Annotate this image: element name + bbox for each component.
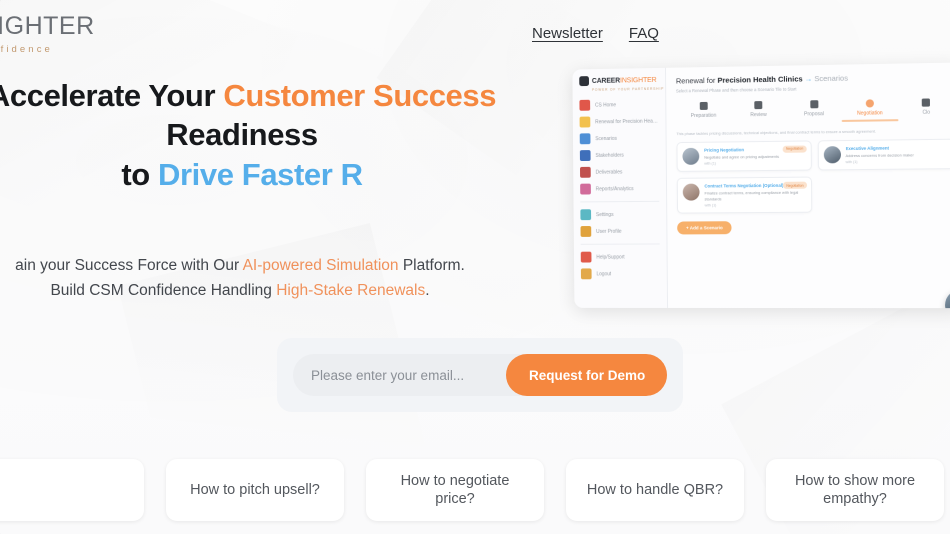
sidebar-item-cs-home[interactable]: CS Home xyxy=(573,96,666,114)
scenario-column-left: Pricing Negotiation Negotiate and agree … xyxy=(676,140,811,214)
mockup-breadcrumb: Renewal for Precision Health Clinics → S… xyxy=(676,72,950,86)
breadcrumb-arrow-icon: → xyxy=(803,74,815,83)
list-item[interactable]: How to handle QBR? xyxy=(566,459,744,521)
subtitle-accent-high-stake: High-Stake Renewals xyxy=(276,282,425,299)
sidebar-divider xyxy=(581,243,660,244)
sidebar-item-scenarios[interactable]: Scenarios xyxy=(573,129,666,147)
tab-proposal[interactable]: Proposal xyxy=(786,100,842,122)
closing-icon xyxy=(922,98,930,106)
mockup-logo-accent: INSIGHTER xyxy=(620,76,656,84)
avatar xyxy=(823,146,840,163)
subtitle-part-1: ain your Success Force with Our xyxy=(15,257,242,274)
list-item[interactable]: How to negotiate price? xyxy=(366,459,544,521)
mockup-main-panel: Renewal for Precision Health Clinics → S… xyxy=(666,62,950,308)
mockup-logo-main: CAREER xyxy=(592,77,620,84)
sidebar-item-logout[interactable]: Logout xyxy=(574,265,667,282)
lock-icon xyxy=(581,268,592,279)
headline-accent-drive-faster: Drive Faster R xyxy=(158,157,363,192)
home-icon xyxy=(579,100,590,111)
subtitle-part-3: Build CSM Confidence Handling xyxy=(50,282,276,299)
proposal-icon xyxy=(810,100,818,108)
tab-negotiation[interactable]: Negotiation xyxy=(842,99,898,121)
email-input[interactable] xyxy=(293,354,506,396)
sidebar-item-renewal[interactable]: Renewal for Precision Hea… xyxy=(573,112,666,130)
people-icon xyxy=(580,150,591,161)
list-item[interactable] xyxy=(0,459,144,521)
subtitle-part-4: . xyxy=(425,282,429,299)
demo-request-form: Request for Demo xyxy=(277,338,683,412)
subtitle-accent-ai-simulation: AI-powered Simulation xyxy=(243,257,399,274)
sidebar-item-reports[interactable]: Reports/Analytics xyxy=(573,180,666,198)
review-icon xyxy=(754,101,762,109)
site-logo[interactable]: INSIGHTER th Confidence xyxy=(0,14,95,55)
list-item[interactable]: Contract Terms Negotiation (Optional) Fi… xyxy=(677,177,812,214)
list-item[interactable]: Executive Alignment Address concerns fro… xyxy=(817,138,950,170)
list-item[interactable]: Pricing Negotiation Negotiate and agree … xyxy=(676,140,811,172)
mockup-phase-tabs: Preparation Review Proposal Negotiation xyxy=(676,98,950,124)
main-navigation: Newsletter FAQ xyxy=(532,25,659,42)
hero-heading-block: Accelerate Your Customer Success Readine… xyxy=(0,76,522,194)
preparation-icon xyxy=(699,102,707,110)
list-item[interactable]: How to pitch upsell? xyxy=(166,459,344,521)
demo-request-row: Request for Demo xyxy=(293,354,667,396)
nav-link-faq[interactable]: FAQ xyxy=(629,25,659,42)
app-screenshot-mockup: CAREERINSIGHTER POWER OF YOUR PARTNERSHI… xyxy=(572,62,950,308)
tab-preparation[interactable]: Preparation xyxy=(676,102,731,124)
sidebar-item-user-profile[interactable]: User Profile xyxy=(574,223,667,240)
mockup-account-name: Precision Health Clinics xyxy=(717,74,802,84)
nav-link-newsletter[interactable]: Newsletter xyxy=(532,25,603,42)
cards-icon xyxy=(580,133,591,144)
sidebar-divider xyxy=(580,201,659,203)
logo-mark-icon xyxy=(579,76,589,86)
logo-wordmark: INSIGHTER xyxy=(0,14,95,39)
add-scenario-button[interactable]: + Add a Scenario xyxy=(677,222,732,235)
page-title: Accelerate Your Customer Success Readine… xyxy=(0,76,522,194)
mockup-sidebar: CAREERINSIGHTER POWER OF YOUR PARTNERSHI… xyxy=(572,68,668,308)
mockup-scenario-grid: Pricing Negotiation Negotiate and agree … xyxy=(676,138,950,214)
question-icon xyxy=(581,252,592,263)
prompt-card-list: How to pitch upsell? How to negotiate pr… xyxy=(0,459,950,521)
scenario-column-right: Executive Alignment Address concerns fro… xyxy=(817,138,950,213)
hero-subtitle: ain your Success Force with Our AI-power… xyxy=(0,253,520,303)
status-badge: Negotiation xyxy=(783,145,806,152)
user-icon xyxy=(581,226,592,237)
headline-part-1: Accelerate Your xyxy=(0,78,223,113)
avatar xyxy=(683,184,700,201)
headline-accent-customer-success: Customer Success xyxy=(223,78,496,113)
status-badge: Negotiation xyxy=(783,182,806,189)
sidebar-item-settings[interactable]: Settings xyxy=(574,206,667,223)
subtitle-part-2: Platform. xyxy=(399,257,465,274)
list-item[interactable]: How to show more empathy? xyxy=(766,459,944,521)
mockup-subtitle: Select a Renewal Phase and then choose a… xyxy=(676,84,950,94)
sidebar-item-stakeholders[interactable]: Stakeholders xyxy=(573,146,666,164)
headline-part-3: to xyxy=(121,157,158,192)
folder-icon xyxy=(580,117,591,128)
books-icon xyxy=(580,167,591,178)
logo-tagline: th Confidence xyxy=(0,45,95,55)
tab-review[interactable]: Review xyxy=(731,101,786,123)
gear-icon xyxy=(580,209,591,220)
avatar xyxy=(682,147,699,164)
active-tab-underline xyxy=(842,119,898,121)
headline-part-2: Readiness xyxy=(166,117,317,152)
sidebar-item-help[interactable]: Help/Support xyxy=(574,248,667,265)
negotiation-icon xyxy=(866,99,874,107)
tab-closing[interactable]: Clo xyxy=(898,98,950,121)
landing-page: INSIGHTER th Confidence Newsletter FAQ A… xyxy=(0,0,950,534)
request-demo-button[interactable]: Request for Demo xyxy=(506,354,667,396)
mockup-phase-note: This phase tackles pricing discussions, … xyxy=(676,127,950,136)
sidebar-item-deliverables[interactable]: Deliverables xyxy=(573,163,666,181)
chart-icon xyxy=(580,184,591,195)
